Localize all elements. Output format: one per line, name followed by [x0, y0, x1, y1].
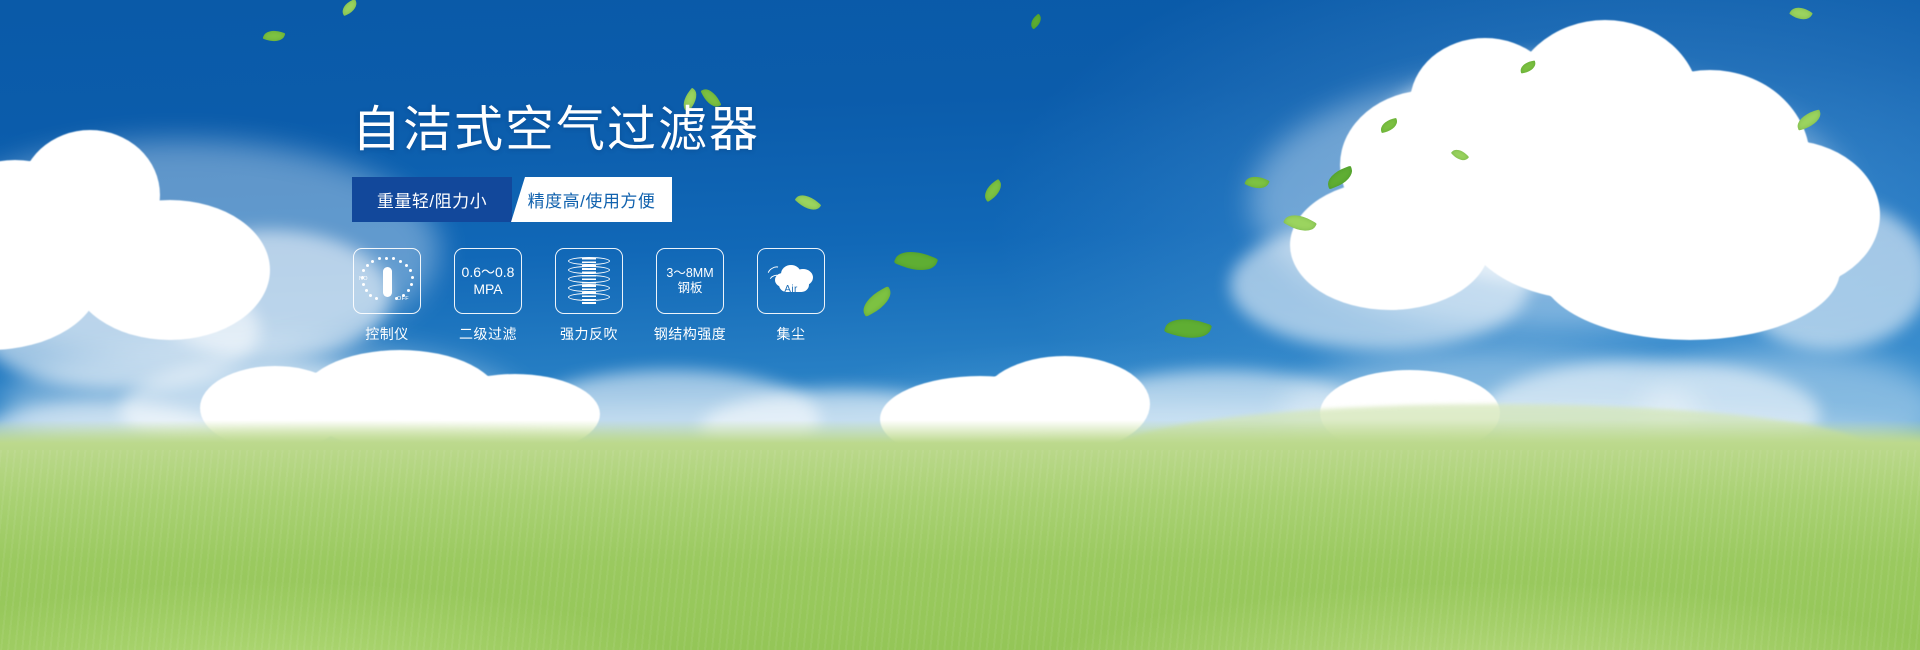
feature-item-filtration[interactable]: 0.6～0.8 MPA 二级过滤 [453, 248, 523, 344]
page-title: 自洁式空气过滤器 [352, 104, 912, 156]
leaf-icon [1283, 209, 1317, 238]
feature-item-controller[interactable]: NO OFF 控制仪 [352, 248, 422, 344]
leaf-icon [1028, 14, 1045, 30]
leaf-icon [1164, 312, 1212, 346]
feature-label: 钢结构强度 [654, 324, 727, 344]
product-hero-banner: 自洁式空气过滤器 重量轻/阻力小 精度高/使用方便 [0, 0, 1920, 650]
feature-item-steel-strength[interactable]: 3～8MM 钢板 钢结构强度 [655, 248, 725, 344]
leaf-icon [1324, 166, 1355, 190]
leaf-icon [1451, 146, 1469, 164]
feature-box [555, 248, 623, 314]
gauge-label-no: NO [359, 276, 368, 282]
pressure-unit: MPA [462, 281, 515, 298]
gauge-label-off: OFF [397, 296, 409, 302]
feature-row: NO OFF 控制仪 0.6～0.8 MPA 二级过滤 [352, 248, 912, 344]
steel-material: 钢板 [666, 281, 713, 296]
feature-item-blowback[interactable]: 强力反吹 [554, 248, 624, 344]
leaf-icon [1789, 3, 1813, 25]
leaf-icon [980, 179, 1005, 202]
feature-box: Air [757, 248, 825, 314]
leaf-icon [1794, 109, 1823, 130]
feature-box: NO OFF [353, 248, 421, 314]
tag-group: 重量轻/阻力小 精度高/使用方便 [352, 177, 673, 222]
banner-content: 自洁式空气过滤器 重量轻/阻力小 精度高/使用方便 [352, 104, 912, 344]
steel-thickness: 3～8MM [666, 266, 713, 281]
leaf-icon [1244, 172, 1269, 193]
steel-plate-text-icon: 3～8MM 钢板 [666, 266, 713, 296]
feature-label: 控制仪 [365, 324, 409, 344]
cloud-air-icon: Air [767, 261, 815, 301]
feature-box: 3～8MM 钢板 [656, 248, 724, 314]
air-label: Air [784, 284, 797, 295]
grass-field [0, 420, 1920, 650]
leaf-icon [1379, 118, 1399, 133]
pressure-text-icon: 0.6～0.8 MPA [462, 264, 515, 297]
gauge-icon: NO OFF [361, 256, 413, 306]
coil-spring-icon [568, 257, 610, 305]
grass-texture [0, 450, 1920, 650]
pressure-range: 0.6～0.8 [462, 264, 515, 281]
feature-box: 0.6～0.8 MPA [454, 248, 522, 314]
leaf-icon [263, 27, 286, 45]
tag-precision-convenience[interactable]: 精度高/使用方便 [511, 177, 672, 222]
feature-label: 集尘 [777, 324, 806, 344]
feature-label: 二级过滤 [459, 324, 517, 344]
cloud-right [1210, 30, 1910, 360]
leaf-icon [1519, 60, 1537, 73]
feature-label: 强力反吹 [560, 324, 618, 344]
feature-item-dust-collection[interactable]: Air 集尘 [756, 248, 826, 344]
tag-weight-resistance[interactable]: 重量轻/阻力小 [352, 177, 512, 222]
leaf-icon [339, 0, 359, 16]
